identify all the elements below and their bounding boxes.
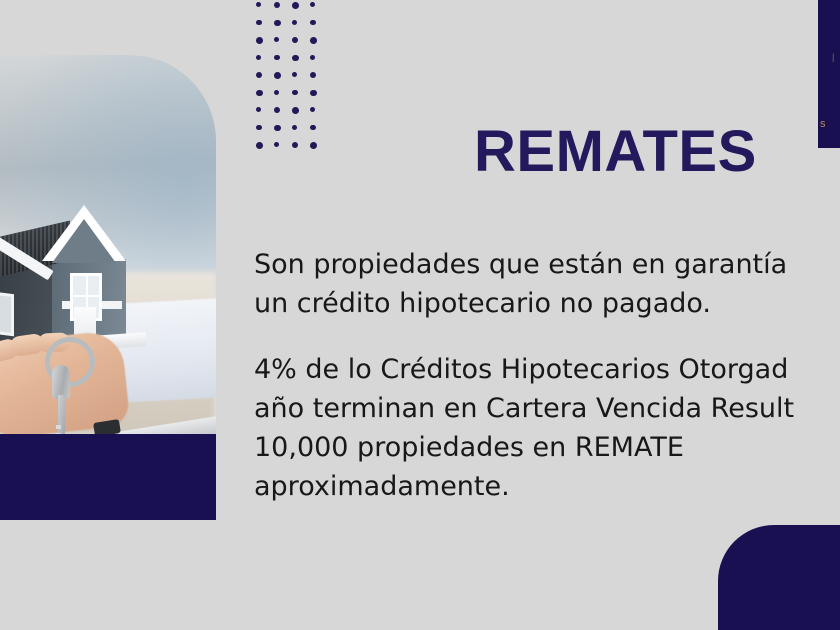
photo-panel xyxy=(0,55,216,435)
dot xyxy=(292,142,298,148)
paragraph-spacer xyxy=(254,323,840,350)
body-line: 10,000 propiedades en REMATE xyxy=(254,428,840,467)
photo-image xyxy=(0,55,216,435)
dot xyxy=(256,125,262,131)
dot xyxy=(310,37,317,44)
dot xyxy=(274,20,281,27)
dot xyxy=(310,107,315,112)
dot xyxy=(274,90,279,95)
dot xyxy=(310,2,315,7)
dot xyxy=(274,125,281,132)
dot xyxy=(274,2,280,8)
dot xyxy=(256,20,262,26)
model-house-icon xyxy=(0,197,134,349)
body-line: Son propiedades que están en garantía xyxy=(254,245,840,284)
slide-canvas: | s REMATES Son propiedades que están en… xyxy=(0,0,840,630)
dot-grid-decoration xyxy=(256,2,328,156)
dot xyxy=(292,125,297,130)
navy-corner-bottom-right xyxy=(718,525,840,630)
dot xyxy=(256,90,263,97)
dot xyxy=(292,55,299,62)
body-line: aproximadamente. xyxy=(254,467,840,506)
dot xyxy=(274,142,279,147)
dot xyxy=(310,125,316,131)
dot xyxy=(292,107,299,114)
body-line: un crédito hipotecario no pagado. xyxy=(254,284,840,323)
dot xyxy=(274,55,280,61)
dot xyxy=(310,142,317,149)
body-text-block: Son propiedades que están en garantía un… xyxy=(254,245,840,506)
clipped-accent-mark-upper: | xyxy=(832,52,834,62)
dot xyxy=(274,72,281,79)
dot xyxy=(310,20,316,26)
dot xyxy=(256,2,261,7)
dot xyxy=(256,37,263,44)
clipped-accent-text: s xyxy=(820,118,826,130)
dot xyxy=(256,142,263,149)
dot xyxy=(274,37,279,42)
dot xyxy=(256,55,261,60)
body-line: 4% de lo Créditos Hipotecarios Otorgad xyxy=(254,350,840,389)
dot xyxy=(292,72,297,77)
dot xyxy=(256,72,262,78)
dot xyxy=(292,20,297,25)
key-icon xyxy=(52,365,70,399)
dot xyxy=(256,107,261,112)
dot xyxy=(310,55,315,60)
dot xyxy=(292,2,299,9)
body-line: año terminan en Cartera Vencida Result xyxy=(254,389,840,428)
navy-bar-top-right: | s xyxy=(818,0,840,148)
navy-block-left xyxy=(0,434,216,520)
dot xyxy=(292,90,298,96)
dot xyxy=(292,37,298,43)
dot xyxy=(310,72,316,78)
dot xyxy=(310,90,317,97)
dot xyxy=(274,107,280,113)
page-title: REMATES xyxy=(474,118,757,185)
